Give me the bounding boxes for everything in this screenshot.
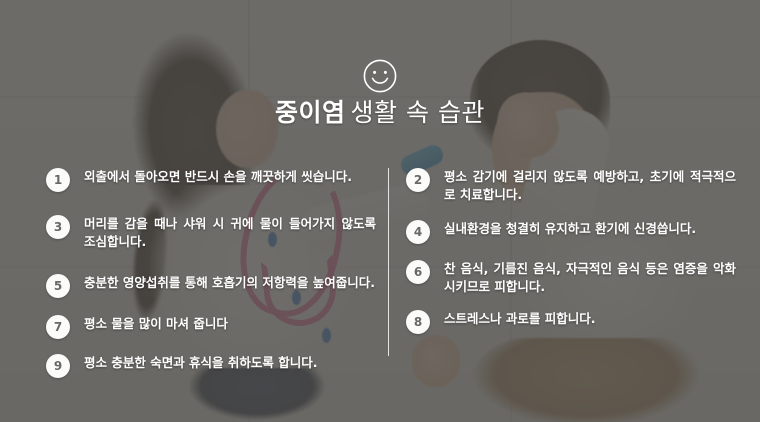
- tip-text: 평소 감기에 걸리지 않도록 예방하고, 초기에 적극적으로 치료합니다.: [444, 168, 736, 204]
- tip-text: 외출에서 돌아오면 반드시 손을 깨끗하게 씻습니다.: [84, 168, 376, 186]
- tip-number-badge: 6: [406, 260, 430, 284]
- tip-number-badge: 8: [406, 310, 430, 334]
- tip-number-badge: 1: [46, 168, 70, 192]
- tip-item-8: 8스트레스나 과로를 피합니다.: [406, 310, 736, 334]
- tip-text: 스트레스나 과로를 피합니다.: [444, 310, 736, 328]
- smiley-face-icon: [363, 59, 397, 93]
- tip-text: 머리를 감을 때나 샤워 시 귀에 물이 들어가지 않도록 조심합니다.: [84, 215, 376, 251]
- tip-number-badge: 7: [46, 315, 70, 339]
- tip-text: 평소 충분한 숙면과 휴식을 취하도록 합니다.: [84, 354, 376, 372]
- tip-item-1: 1외출에서 돌아오면 반드시 손을 깨끗하게 씻습니다.: [46, 168, 376, 192]
- tip-number-badge: 4: [406, 220, 430, 244]
- tip-number-badge: 5: [46, 274, 70, 298]
- tip-text: 실내환경을 청결히 유지하고 환기에 신경씁니다.: [444, 220, 736, 238]
- tip-item-7: 7평소 물을 많이 마셔 줍니다: [46, 315, 376, 339]
- content-layer: 중이염생활 속 습관 1외출에서 돌아오면 반드시 손을 깨끗하게 씻습니다.3…: [0, 0, 760, 422]
- tip-item-5: 5충분한 영양섭취를 통해 호흡기의 저항력을 높여줍니다.: [46, 274, 376, 298]
- page-title: 중이염생활 속 습관: [0, 100, 760, 125]
- tip-text: 평소 물을 많이 마셔 줍니다: [84, 315, 376, 333]
- infographic-card: 중이염생활 속 습관 1외출에서 돌아오면 반드시 손을 깨끗하게 씻습니다.3…: [0, 0, 760, 422]
- tip-item-3: 3머리를 감을 때나 샤워 시 귀에 물이 들어가지 않도록 조심합니다.: [46, 215, 376, 251]
- page-title-keyword: 중이염: [275, 98, 346, 127]
- tip-item-9: 9평소 충분한 숙면과 휴식을 취하도록 합니다.: [46, 354, 376, 378]
- tip-number-badge: 9: [46, 354, 70, 378]
- tip-item-4: 4실내환경을 청결히 유지하고 환기에 신경씁니다.: [406, 220, 736, 244]
- tip-number-badge: 3: [46, 215, 70, 239]
- tip-item-6: 6찬 음식, 기름진 음식, 자극적인 음식 등은 염증을 악화시키므로 피합니…: [406, 260, 736, 296]
- tip-item-2: 2평소 감기에 걸리지 않도록 예방하고, 초기에 적극적으로 치료합니다.: [406, 168, 736, 204]
- column-divider: [388, 168, 389, 356]
- page-title-rest: 생활 속 습관: [351, 98, 485, 127]
- tip-text: 충분한 영양섭취를 통해 호흡기의 저항력을 높여줍니다.: [84, 274, 376, 292]
- tip-number-badge: 2: [406, 168, 430, 192]
- tip-text: 찬 음식, 기름진 음식, 자극적인 음식 등은 염증을 악화시키므로 피합니다…: [444, 260, 736, 296]
